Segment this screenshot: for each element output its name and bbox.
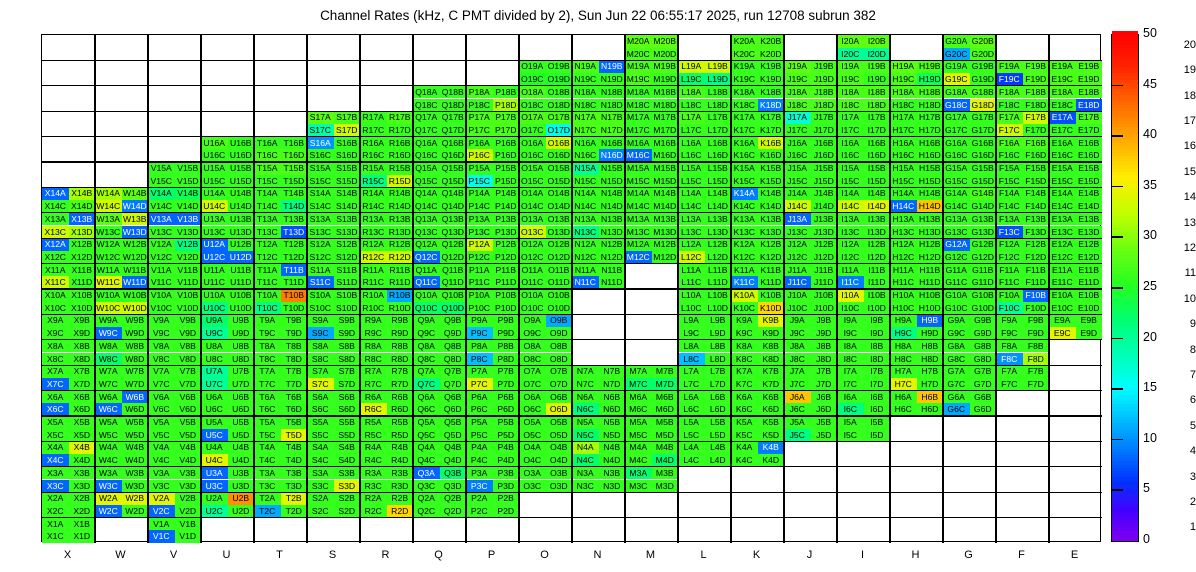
heatmap-channel-cell[interactable]: M3C — [625, 480, 652, 493]
heatmap-channel-cell[interactable]: H8B — [917, 340, 944, 353]
heatmap-channel-cell[interactable]: O5A — [519, 416, 546, 429]
heatmap-channel-cell[interactable]: N12D — [599, 251, 626, 264]
heatmap-channel-cell[interactable]: X11A — [42, 264, 69, 277]
heatmap-channel-cell[interactable]: F14A — [996, 187, 1023, 200]
heatmap-channel-cell[interactable]: H9C — [890, 327, 917, 340]
heatmap-channel-cell[interactable]: J12D — [811, 251, 838, 264]
heatmap-channel-cell[interactable]: R7C — [360, 378, 387, 391]
heatmap-channel-cell[interactable]: P5B — [493, 416, 520, 429]
heatmap-channel-cell[interactable]: M12C — [625, 251, 652, 264]
heatmap-channel-cell[interactable]: N13B — [599, 213, 626, 226]
heatmap-channel-cell[interactable]: J6C — [784, 403, 811, 416]
heatmap-channel-cell[interactable]: J16B — [811, 137, 838, 150]
heatmap-channel-cell[interactable]: R12C — [360, 251, 387, 264]
heatmap-channel-cell[interactable]: P15B — [493, 162, 520, 175]
heatmap-channel-cell[interactable]: O4C — [519, 454, 546, 467]
heatmap-channel-cell[interactable]: Q9C — [413, 327, 440, 340]
heatmap-channel-cell[interactable]: M15C — [625, 175, 652, 188]
heatmap-channel-cell[interactable]: Q8A — [413, 340, 440, 353]
heatmap-channel-cell[interactable]: K8D — [758, 353, 785, 366]
heatmap-channel-cell[interactable]: Q12D — [440, 251, 467, 264]
heatmap-channel-cell[interactable]: L19D — [705, 73, 732, 86]
heatmap-channel-cell[interactable]: M16B — [652, 137, 679, 150]
heatmap-channel-cell[interactable]: P13C — [466, 226, 493, 239]
heatmap-channel-cell[interactable]: P4A — [466, 441, 493, 454]
heatmap-channel-cell[interactable]: N6D — [599, 403, 626, 416]
heatmap-channel-cell[interactable]: I10D — [864, 302, 891, 315]
heatmap-channel-cell[interactable]: T10C — [254, 302, 281, 315]
heatmap-channel-cell[interactable]: S7D — [334, 378, 361, 391]
heatmap-channel-cell[interactable]: M4B — [652, 441, 679, 454]
heatmap-channel-cell[interactable]: H9D — [917, 327, 944, 340]
heatmap-channel-cell[interactable]: W14D — [122, 200, 149, 213]
heatmap-channel-cell[interactable]: X12A — [42, 238, 69, 251]
heatmap-channel-cell[interactable]: E15B — [1076, 162, 1103, 175]
heatmap-channel-cell[interactable]: O16D — [546, 149, 573, 162]
heatmap-channel-cell[interactable]: K16A — [731, 137, 758, 150]
heatmap-channel-cell[interactable]: P3D — [493, 480, 520, 493]
heatmap-channel-cell[interactable]: V4B — [175, 441, 202, 454]
heatmap-channel-cell[interactable]: O3C — [519, 480, 546, 493]
heatmap-channel-cell[interactable]: R6B — [387, 391, 414, 404]
heatmap-channel-cell[interactable]: I8B — [864, 340, 891, 353]
heatmap-channel-cell[interactable]: F8D — [1023, 353, 1050, 366]
heatmap-channel-cell[interactable]: L17D — [705, 124, 732, 137]
heatmap-channel-cell[interactable]: L6B — [705, 391, 732, 404]
heatmap-channel-cell[interactable]: T8A — [254, 340, 281, 353]
heatmap-channel-cell[interactable]: O5D — [546, 429, 573, 442]
heatmap-channel-cell[interactable]: E14B — [1076, 187, 1103, 200]
heatmap-channel-cell[interactable]: H14B — [917, 187, 944, 200]
heatmap-channel-cell[interactable]: T3D — [281, 480, 308, 493]
heatmap-channel-cell[interactable]: I18D — [864, 99, 891, 112]
heatmap-channel-cell[interactable]: T7A — [254, 365, 281, 378]
heatmap-channel-cell[interactable]: S5D — [334, 429, 361, 442]
heatmap-channel-cell[interactable]: R4C — [360, 454, 387, 467]
heatmap-channel-cell[interactable]: G7C — [943, 378, 970, 391]
heatmap-channel-cell[interactable]: N14C — [572, 200, 599, 213]
heatmap-channel-cell[interactable]: W2D — [122, 505, 149, 518]
heatmap-channel-cell[interactable]: V3D — [175, 480, 202, 493]
heatmap-channel-cell[interactable]: P8D — [493, 353, 520, 366]
heatmap-channel-cell[interactable]: W4A — [95, 441, 122, 454]
heatmap-channel-cell[interactable]: U12A — [201, 238, 228, 251]
heatmap-channel-cell[interactable]: E12A — [1049, 238, 1076, 251]
heatmap-channel-cell[interactable]: H7B — [917, 365, 944, 378]
heatmap-channel-cell[interactable]: Q9B — [440, 314, 467, 327]
heatmap-channel-cell[interactable]: L14D — [705, 200, 732, 213]
heatmap-channel-cell[interactable]: E14A — [1049, 187, 1076, 200]
heatmap-channel-cell[interactable]: W14C — [95, 200, 122, 213]
heatmap-channel-cell[interactable]: N4D — [599, 454, 626, 467]
heatmap-channel-cell[interactable]: G18C — [943, 99, 970, 112]
heatmap-channel-cell[interactable]: H16C — [890, 149, 917, 162]
heatmap-channel-cell[interactable]: R17D — [387, 124, 414, 137]
heatmap-channel-cell[interactable]: V9A — [148, 314, 175, 327]
heatmap-channel-cell[interactable]: K19A — [731, 60, 758, 73]
heatmap-channel-cell[interactable]: P18D — [493, 99, 520, 112]
heatmap-channel-cell[interactable]: K13B — [758, 213, 785, 226]
heatmap-channel-cell[interactable]: G13C — [943, 226, 970, 239]
heatmap-channel-cell[interactable]: R12D — [387, 251, 414, 264]
heatmap-channel-cell[interactable]: N13C — [572, 226, 599, 239]
heatmap-channel-cell[interactable]: V9D — [175, 327, 202, 340]
heatmap-channel-cell[interactable]: M3B — [652, 467, 679, 480]
heatmap-channel-cell[interactable]: Q3B — [440, 467, 467, 480]
heatmap-channel-cell[interactable]: F13D — [1023, 226, 1050, 239]
heatmap-channel-cell[interactable]: P8A — [466, 340, 493, 353]
heatmap-channel-cell[interactable]: L9C — [678, 327, 705, 340]
heatmap-channel-cell[interactable]: R7B — [387, 365, 414, 378]
heatmap-channel-cell[interactable]: G8C — [943, 353, 970, 366]
heatmap-channel-cell[interactable]: E10A — [1049, 289, 1076, 302]
heatmap-channel-cell[interactable]: P14C — [466, 200, 493, 213]
heatmap-channel-cell[interactable]: N17D — [599, 124, 626, 137]
heatmap-channel-cell[interactable]: L6A — [678, 391, 705, 404]
heatmap-channel-cell[interactable]: E15C — [1049, 175, 1076, 188]
heatmap-channel-cell[interactable]: N7C — [572, 378, 599, 391]
heatmap-channel-cell[interactable]: T5D — [281, 429, 308, 442]
heatmap-channel-cell[interactable]: I18C — [837, 99, 864, 112]
heatmap-channel-cell[interactable]: G18B — [970, 86, 997, 99]
heatmap-channel-cell[interactable]: G17A — [943, 111, 970, 124]
heatmap-channel-cell[interactable]: V2D — [175, 505, 202, 518]
heatmap-channel-cell[interactable]: Q5C — [413, 429, 440, 442]
heatmap-channel-cell[interactable]: W5B — [122, 416, 149, 429]
heatmap-channel-cell[interactable]: H17B — [917, 111, 944, 124]
heatmap-channel-cell[interactable]: O11B — [546, 264, 573, 277]
heatmap-channel-cell[interactable]: V5A — [148, 416, 175, 429]
heatmap-channel-cell[interactable]: M13B — [652, 213, 679, 226]
heatmap-channel-cell[interactable]: E19A — [1049, 60, 1076, 73]
heatmap-channel-cell[interactable]: G14C — [943, 200, 970, 213]
heatmap-channel-cell[interactable]: F15D — [1023, 175, 1050, 188]
heatmap-channel-cell[interactable]: I18A — [837, 86, 864, 99]
heatmap-channel-cell[interactable]: M12A — [625, 238, 652, 251]
heatmap-channel-cell[interactable]: W9B — [122, 314, 149, 327]
heatmap-channel-cell[interactable]: P10C — [466, 302, 493, 315]
heatmap-channel-cell[interactable]: F15B — [1023, 162, 1050, 175]
heatmap-channel-cell[interactable]: Q5A — [413, 416, 440, 429]
heatmap-channel-cell[interactable]: O14D — [546, 200, 573, 213]
heatmap-channel-cell[interactable]: E15A — [1049, 162, 1076, 175]
heatmap-channel-cell[interactable]: F16D — [1023, 149, 1050, 162]
heatmap-channel-cell[interactable]: G19C — [943, 73, 970, 86]
heatmap-channel-cell[interactable]: T6B — [281, 391, 308, 404]
heatmap-channel-cell[interactable]: J7A — [784, 365, 811, 378]
heatmap-channel-cell[interactable]: T11A — [254, 264, 281, 277]
heatmap-channel-cell[interactable]: M17D — [652, 124, 679, 137]
heatmap-channel-cell[interactable]: W12C — [95, 251, 122, 264]
heatmap-channel-cell[interactable]: H18C — [890, 99, 917, 112]
heatmap-channel-cell[interactable]: I15C — [837, 175, 864, 188]
heatmap-channel-cell[interactable]: I9D — [864, 327, 891, 340]
heatmap-channel-cell[interactable]: L4A — [678, 441, 705, 454]
heatmap-channel-cell[interactable]: N14A — [572, 187, 599, 200]
heatmap-channel-cell[interactable]: O9B — [546, 314, 573, 327]
heatmap-channel-cell[interactable]: T13C — [254, 226, 281, 239]
heatmap-channel-cell[interactable]: O3A — [519, 467, 546, 480]
heatmap-channel-cell[interactable]: L9B — [705, 314, 732, 327]
heatmap-channel-cell[interactable]: Q3C — [413, 480, 440, 493]
heatmap-channel-cell[interactable]: R3D — [387, 480, 414, 493]
heatmap-channel-cell[interactable]: S3B — [334, 467, 361, 480]
heatmap-channel-cell[interactable]: F7A — [996, 365, 1023, 378]
heatmap-channel-cell[interactable]: J15D — [811, 175, 838, 188]
heatmap-channel-cell[interactable]: E14D — [1076, 200, 1103, 213]
heatmap-channel-cell[interactable]: K12B — [758, 238, 785, 251]
heatmap-channel-cell[interactable]: K11B — [758, 264, 785, 277]
heatmap-channel-cell[interactable]: Q17C — [413, 124, 440, 137]
heatmap-channel-cell[interactable]: V10D — [175, 302, 202, 315]
heatmap-channel-cell[interactable]: T15B — [281, 162, 308, 175]
heatmap-channel-cell[interactable]: O16B — [546, 137, 573, 150]
heatmap-channel-cell[interactable]: L5D — [705, 429, 732, 442]
heatmap-channel-cell[interactable]: J13C — [784, 226, 811, 239]
heatmap-channel-cell[interactable]: P9D — [493, 327, 520, 340]
heatmap-channel-cell[interactable]: W7C — [95, 378, 122, 391]
heatmap-channel-cell[interactable]: O14C — [519, 200, 546, 213]
heatmap-channel-cell[interactable]: X6C — [42, 403, 69, 416]
heatmap-channel-cell[interactable]: R14C — [360, 200, 387, 213]
heatmap-channel-cell[interactable]: G11A — [943, 264, 970, 277]
heatmap-channel-cell[interactable]: O15C — [519, 175, 546, 188]
heatmap-channel-cell[interactable]: V5B — [175, 416, 202, 429]
heatmap-channel-cell[interactable]: X4B — [69, 441, 96, 454]
heatmap-channel-cell[interactable]: T15A — [254, 162, 281, 175]
heatmap-channel-cell[interactable]: H15A — [890, 162, 917, 175]
heatmap-channel-cell[interactable]: P4C — [466, 454, 493, 467]
heatmap-channel-cell[interactable]: E16B — [1076, 137, 1103, 150]
heatmap-channel-cell[interactable]: T5A — [254, 416, 281, 429]
heatmap-channel-cell[interactable]: G14B — [970, 187, 997, 200]
heatmap-channel-cell[interactable]: R8D — [387, 353, 414, 366]
heatmap-channel-cell[interactable]: M19B — [652, 60, 679, 73]
heatmap-channel-cell[interactable]: L12C — [678, 251, 705, 264]
heatmap-channel-cell[interactable]: O17D — [546, 124, 573, 137]
heatmap-channel-cell[interactable]: V10B — [175, 289, 202, 302]
heatmap-channel-cell[interactable]: X13C — [42, 226, 69, 239]
heatmap-channel-cell[interactable]: G20B — [970, 35, 997, 48]
heatmap-channel-cell[interactable]: P3B — [493, 467, 520, 480]
heatmap-channel-cell[interactable]: I9A — [837, 314, 864, 327]
heatmap-channel-cell[interactable]: J9B — [811, 314, 838, 327]
heatmap-channel-cell[interactable]: H13A — [890, 213, 917, 226]
heatmap-channel-cell[interactable]: G10B — [970, 289, 997, 302]
heatmap-channel-cell[interactable]: X2C — [42, 505, 69, 518]
heatmap-channel-cell[interactable]: X2A — [42, 492, 69, 505]
heatmap-channel-cell[interactable]: L11B — [705, 264, 732, 277]
heatmap-channel-cell[interactable]: V9C — [148, 327, 175, 340]
heatmap-channel-cell[interactable]: J5C — [784, 429, 811, 442]
heatmap-channel-cell[interactable]: J10D — [811, 302, 838, 315]
heatmap-channel-cell[interactable]: K7A — [731, 365, 758, 378]
heatmap-channel-cell[interactable]: V11C — [148, 276, 175, 289]
heatmap-channel-cell[interactable]: R15B — [387, 162, 414, 175]
heatmap-channel-cell[interactable]: S11B — [334, 264, 361, 277]
heatmap-channel-cell[interactable]: F8A — [996, 340, 1023, 353]
heatmap-channel-cell[interactable]: R13C — [360, 226, 387, 239]
heatmap-channel-cell[interactable]: R6C — [360, 403, 387, 416]
heatmap-channel-cell[interactable]: E17A — [1049, 111, 1076, 124]
heatmap-channel-cell[interactable]: K18A — [731, 86, 758, 99]
heatmap-channel-cell[interactable]: K10C — [731, 302, 758, 315]
heatmap-channel-cell[interactable]: U14D — [228, 200, 255, 213]
heatmap-channel-cell[interactable]: R13B — [387, 213, 414, 226]
heatmap-channel-cell[interactable]: N11A — [572, 264, 599, 277]
heatmap-channel-cell[interactable]: N15A — [572, 162, 599, 175]
heatmap-channel-cell[interactable]: W2B — [122, 492, 149, 505]
heatmap-channel-cell[interactable]: K7B — [758, 365, 785, 378]
heatmap-channel-cell[interactable]: J19A — [784, 60, 811, 73]
heatmap-channel-cell[interactable]: V5D — [175, 429, 202, 442]
heatmap-channel-cell[interactable]: U16D — [228, 149, 255, 162]
heatmap-channel-cell[interactable]: E18A — [1049, 86, 1076, 99]
heatmap-channel-cell[interactable]: X6D — [69, 403, 96, 416]
heatmap-channel-cell[interactable]: W14A — [95, 187, 122, 200]
heatmap-channel-cell[interactable]: O6A — [519, 391, 546, 404]
heatmap-channel-cell[interactable]: I15B — [864, 162, 891, 175]
heatmap-channel-cell[interactable]: F14D — [1023, 200, 1050, 213]
heatmap-channel-cell[interactable]: V8C — [148, 353, 175, 366]
heatmap-channel-cell[interactable]: N18C — [572, 99, 599, 112]
heatmap-channel-cell[interactable]: U10A — [201, 289, 228, 302]
heatmap-channel-cell[interactable]: K17C — [731, 124, 758, 137]
heatmap-channel-cell[interactable]: S3C — [307, 480, 334, 493]
heatmap-channel-cell[interactable]: U9B — [228, 314, 255, 327]
heatmap-channel-cell[interactable]: R14A — [360, 187, 387, 200]
heatmap-channel-cell[interactable]: P16A — [466, 137, 493, 150]
heatmap-channel-cell[interactable]: V11D — [175, 276, 202, 289]
heatmap-channel-cell[interactable]: O16C — [519, 149, 546, 162]
heatmap-channel-cell[interactable]: L19A — [678, 60, 705, 73]
heatmap-channel-cell[interactable]: N18B — [599, 86, 626, 99]
heatmap-channel-cell[interactable]: G12B — [970, 238, 997, 251]
heatmap-channel-cell[interactable]: H17D — [917, 124, 944, 137]
heatmap-channel-cell[interactable]: E9A — [1049, 314, 1076, 327]
heatmap-channel-cell[interactable]: K4A — [731, 441, 758, 454]
heatmap-channel-cell[interactable]: P8C — [466, 353, 493, 366]
heatmap-channel-cell[interactable]: P17C — [466, 124, 493, 137]
heatmap-channel-cell[interactable]: S15A — [307, 162, 334, 175]
heatmap-channel-cell[interactable]: H10D — [917, 302, 944, 315]
heatmap-channel-cell[interactable]: H7C — [890, 378, 917, 391]
heatmap-channel-cell[interactable]: H9A — [890, 314, 917, 327]
heatmap-channel-cell[interactable]: W8B — [122, 340, 149, 353]
heatmap-channel-cell[interactable]: P12A — [466, 238, 493, 251]
heatmap-channel-cell[interactable]: X3D — [69, 480, 96, 493]
heatmap-channel-cell[interactable]: L6D — [705, 403, 732, 416]
heatmap-channel-cell[interactable]: R3B — [387, 467, 414, 480]
heatmap-channel-cell[interactable]: S9A — [307, 314, 334, 327]
heatmap-channel-cell[interactable]: P7B — [493, 365, 520, 378]
heatmap-channel-cell[interactable]: U16B — [228, 137, 255, 150]
heatmap-channel-cell[interactable]: P2C — [466, 505, 493, 518]
heatmap-channel-cell[interactable]: N15D — [599, 175, 626, 188]
heatmap-channel-cell[interactable]: H11D — [917, 276, 944, 289]
heatmap-channel-cell[interactable]: F16C — [996, 149, 1023, 162]
heatmap-channel-cell[interactable]: N5C — [572, 429, 599, 442]
heatmap-channel-cell[interactable]: T14A — [254, 187, 281, 200]
heatmap-channel-cell[interactable]: P9B — [493, 314, 520, 327]
heatmap-channel-cell[interactable]: I19D — [864, 73, 891, 86]
heatmap-channel-cell[interactable]: P13B — [493, 213, 520, 226]
heatmap-channel-cell[interactable]: J14C — [784, 200, 811, 213]
heatmap-channel-cell[interactable]: V4A — [148, 441, 175, 454]
heatmap-channel-cell[interactable]: F19D — [1023, 73, 1050, 86]
heatmap-channel-cell[interactable]: H19A — [890, 60, 917, 73]
heatmap-channel-cell[interactable]: G9D — [970, 327, 997, 340]
heatmap-channel-cell[interactable]: G15B — [970, 162, 997, 175]
heatmap-channel-cell[interactable]: X2D — [69, 505, 96, 518]
heatmap-channel-cell[interactable]: I14C — [837, 200, 864, 213]
heatmap-channel-cell[interactable]: N15B — [599, 162, 626, 175]
heatmap-channel-cell[interactable]: O7B — [546, 365, 573, 378]
heatmap-channel-cell[interactable]: O8C — [519, 353, 546, 366]
heatmap-channel-cell[interactable]: U8B — [228, 340, 255, 353]
heatmap-channel-cell[interactable]: J8B — [811, 340, 838, 353]
heatmap-channel-cell[interactable]: I13B — [864, 213, 891, 226]
heatmap-channel-cell[interactable]: W6C — [95, 403, 122, 416]
heatmap-channel-cell[interactable]: F8B — [1023, 340, 1050, 353]
heatmap-channel-cell[interactable]: L12B — [705, 238, 732, 251]
heatmap-channel-cell[interactable]: O15B — [546, 162, 573, 175]
heatmap-channel-cell[interactable]: Q11A — [413, 264, 440, 277]
heatmap-channel-cell[interactable]: H11B — [917, 264, 944, 277]
heatmap-channel-cell[interactable]: R16A — [360, 137, 387, 150]
heatmap-channel-cell[interactable]: J12B — [811, 238, 838, 251]
heatmap-channel-cell[interactable]: L7C — [678, 378, 705, 391]
heatmap-channel-cell[interactable]: Q8B — [440, 340, 467, 353]
heatmap-channel-cell[interactable]: T12C — [254, 251, 281, 264]
heatmap-channel-cell[interactable]: X4C — [42, 454, 69, 467]
heatmap-channel-cell[interactable]: V3C — [148, 480, 175, 493]
heatmap-channel-cell[interactable]: S10B — [334, 289, 361, 302]
heatmap-channel-cell[interactable]: K17D — [758, 124, 785, 137]
heatmap-channel-cell[interactable]: W12A — [95, 238, 122, 251]
heatmap-channel-cell[interactable]: G7A — [943, 365, 970, 378]
heatmap-channel-cell[interactable]: N12C — [572, 251, 599, 264]
heatmap-channel-cell[interactable]: T12B — [281, 238, 308, 251]
heatmap-channel-cell[interactable]: I12C — [837, 251, 864, 264]
heatmap-channel-cell[interactable]: O7C — [519, 378, 546, 391]
heatmap-channel-cell[interactable]: E19D — [1076, 73, 1103, 86]
heatmap-channel-cell[interactable]: W2C — [95, 505, 122, 518]
heatmap-channel-cell[interactable]: S8C — [307, 353, 334, 366]
heatmap-channel-cell[interactable]: R9B — [387, 314, 414, 327]
heatmap-channel-cell[interactable]: M15B — [652, 162, 679, 175]
heatmap-channel-cell[interactable]: N19B — [599, 60, 626, 73]
heatmap-channel-cell[interactable]: U7D — [228, 378, 255, 391]
heatmap-channel-cell[interactable]: Q10A — [413, 289, 440, 302]
heatmap-channel-cell[interactable]: X8A — [42, 340, 69, 353]
heatmap-channel-cell[interactable]: Q17A — [413, 111, 440, 124]
heatmap-channel-cell[interactable]: H6C — [890, 403, 917, 416]
heatmap-channel-cell[interactable]: E13A — [1049, 213, 1076, 226]
heatmap-channel-cell[interactable]: P10B — [493, 289, 520, 302]
heatmap-channel-cell[interactable]: X12D — [69, 251, 96, 264]
heatmap-channel-cell[interactable]: U3D — [228, 480, 255, 493]
heatmap-channel-cell[interactable]: R15C — [360, 175, 387, 188]
heatmap-channel-cell[interactable]: T4D — [281, 454, 308, 467]
heatmap-channel-cell[interactable]: O13A — [519, 213, 546, 226]
heatmap-channel-cell[interactable]: U11D — [228, 276, 255, 289]
heatmap-channel-cell[interactable]: X14D — [69, 200, 96, 213]
heatmap-channel-cell[interactable]: M16A — [625, 137, 652, 150]
heatmap-channel-cell[interactable]: Q7B — [440, 365, 467, 378]
heatmap-channel-cell[interactable]: H10A — [890, 289, 917, 302]
heatmap-channel-cell[interactable]: N4B — [599, 441, 626, 454]
